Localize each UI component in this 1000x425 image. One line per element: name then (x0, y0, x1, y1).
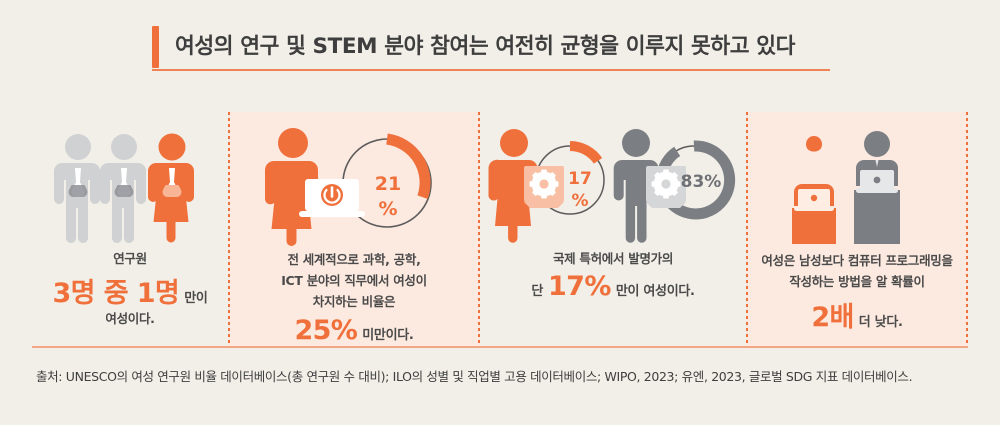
stat-prefix: 단 (531, 280, 543, 299)
panel-programming: 여성은 남성보다 컴퓨터 프로그래밍을 작성하는 방법을 알 확률이 2배 더 … (746, 112, 968, 346)
donut-value-number: 21 (374, 173, 400, 195)
title-accent-bar (152, 26, 159, 68)
gear-sign-orange (524, 166, 564, 208)
bottom-divider (32, 346, 968, 348)
stat-value: 2배 (811, 295, 853, 334)
caption-researchers: 연구원 3명 중 1명 만이 여성이다. (32, 250, 228, 328)
donut-value-number-17: 17 (568, 169, 592, 189)
laptop-icon-orange (794, 189, 834, 211)
infographic-root: 여성의 연구 및 STEM 분야 참여는 여전히 균형을 이루지 못하고 있다 (0, 0, 1000, 425)
caption-line-1: 국제 특허에서 발명가의 (488, 250, 738, 268)
stat-value: 17% (548, 271, 611, 302)
caption-line-1: 연구원 (40, 250, 220, 268)
panel-stem-jobs: 21 % (228, 112, 480, 346)
caption-stem-jobs: 전 세계적으로 과학, 공학, ICT 분야의 직무에서 여성이 차지하는 비율… (228, 249, 480, 346)
title-underline (152, 69, 830, 71)
three-people-researchers-icon (32, 126, 228, 244)
panel-patents: 17 % (480, 112, 746, 346)
stat-suffix: 만이 (184, 287, 207, 306)
caption-line-3: 여성이다. (40, 310, 220, 328)
stat-row: 2배 더 낮다. (754, 295, 960, 334)
stat-suffix: 미만이다. (362, 324, 413, 343)
caption-line-3: 차지하는 비율은 (236, 291, 472, 312)
caption-line-1: 전 세계적으로 과학, 공학, (236, 249, 472, 270)
donut-value-unit-17: % (571, 191, 588, 211)
source-note: 출처: UNESCO의 여성 연구원 비율 데이터베이스(총 연구원 수 대비)… (36, 368, 976, 386)
panel-researchers: 연구원 3명 중 1명 만이 여성이다. (32, 112, 228, 346)
stat-row: 25% 미만이다. (236, 315, 472, 346)
stat-row: 단 17% 만이 여성이다. (488, 271, 738, 302)
panel-row: 연구원 3명 중 1명 만이 여성이다. 21 % (32, 112, 968, 346)
donut-arc-17 (570, 146, 598, 161)
caption-line-1: 여성은 남성보다 컴퓨터 프로그래밍을 (754, 250, 960, 271)
caption-line-2: 작성하는 방법을 알 확률이 (754, 271, 960, 292)
caption-programming: 여성은 남성보다 컴퓨터 프로그래밍을 작성하는 방법을 알 확률이 2배 더 … (746, 250, 968, 334)
caption-patents: 국제 특허에서 발명가의 단 17% 만이 여성이다. (480, 250, 746, 302)
donut-value-unit: % (378, 198, 397, 220)
caption-line-2: ICT 분야의 직무에서 여성이 (236, 270, 472, 291)
title-block: 여성의 연구 및 STEM 분야 참여는 여전히 균형을 이루지 못하고 있다 (152, 26, 795, 68)
woman-with-laptop-icon: 21 % (228, 126, 480, 243)
page-title: 여성의 연구 및 STEM 분야 참여는 여전히 균형을 이루지 못하고 있다 (175, 26, 795, 68)
laptop-icon (299, 179, 365, 217)
stat-suffix: 더 낮다. (859, 311, 903, 330)
inventor-gear-icons: 17 % (480, 126, 746, 244)
donut-value-83: 83% (681, 172, 722, 192)
stat-value: 3명 중 1명 (52, 271, 179, 310)
two-people-at-desks-with-laptops-icon (746, 126, 968, 244)
laptop-icon-gray (856, 170, 898, 193)
stat-row: 3명 중 1명 만이 (40, 271, 220, 310)
stat-value: 25% (294, 315, 357, 346)
stat-suffix: 만이 여성이다. (616, 280, 695, 299)
